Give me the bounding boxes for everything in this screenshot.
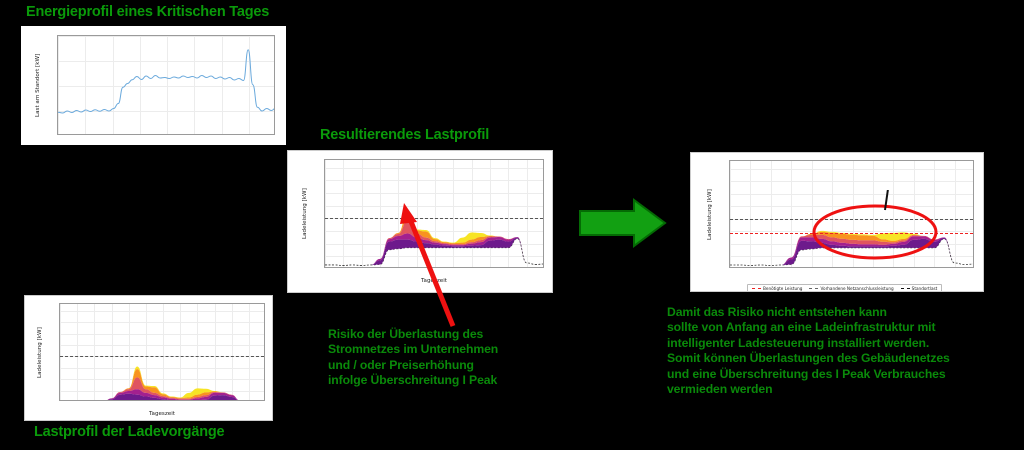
callout-arrow-icon-red: [395, 200, 465, 330]
series-layer: [60, 304, 265, 401]
chart3-title: Lastprofil der Ladevorgänge: [34, 424, 224, 440]
chart-panel-lastprofil-ladevorgaenge: 25507510012515017520000:0002:0004:0006:0…: [24, 295, 273, 421]
solution-line-line-3: Somit können Überlastungen des Gebäudene…: [667, 351, 950, 366]
series-layer: [58, 36, 275, 135]
chart1-plot-area: 01020304000:0003:0006:0009:0012:0015:001…: [57, 35, 275, 135]
solution-line-line-1: sollte von Anfang an eine Ladeinfrastruk…: [667, 320, 950, 335]
legend-item: Standortlast: [901, 286, 938, 291]
chart1-title: Energieprofil eines Kritischen Tages: [26, 4, 269, 20]
chart3-y-axis-label: Ladeleistung [kW]: [37, 327, 43, 378]
threshold-line: [60, 356, 264, 357]
risk-line-line-3: infolge Überschreitung I Peak: [328, 373, 498, 388]
chart-panel-energieprofil: 01020304000:0003:0006:0009:0012:0015:001…: [21, 26, 286, 145]
chart2-y-axis-label: Ladeleistung [kW]: [302, 188, 308, 239]
legend-item: Benötigte Leistung: [752, 286, 802, 291]
slide-canvas: Energieprofil eines Kritischen Tages 010…: [0, 0, 1024, 450]
legend-label: Benötigte Leistung: [763, 286, 802, 291]
legend-label: Vorhandene Netzanschlussleistung: [820, 286, 893, 291]
highlight-ellipse-icon: [810, 190, 940, 260]
risk-line-line-1: Stromnetzes im Unternehmen: [328, 342, 498, 357]
legend-item: Vorhandene Netzanschlussleistung: [809, 286, 893, 291]
chart1-y-axis-label: Last am Standort [kW]: [35, 53, 41, 116]
right-arrow-icon: [578, 197, 668, 249]
solution-line-line-0: Damit das Risiko nicht entstehen kann: [667, 305, 950, 320]
line-series: [58, 50, 275, 113]
risk-line-line-2: und / oder Preiserhöhung: [328, 358, 498, 373]
chart3-plot-area: 25507510012515017520000:0002:0004:0006:0…: [59, 303, 265, 401]
legend-swatch-icon: [901, 288, 910, 289]
chart4-y-axis-label: Ladeleistung [kW]: [707, 189, 713, 240]
chart4-legend: Benötigte LeistungVorhandene Netzanschlu…: [747, 284, 942, 292]
risk-line-line-0: Risiko der Überlastung des: [328, 327, 498, 342]
legend-swatch-icon: [809, 288, 818, 289]
risk-annotation-text: Risiko der Überlastung desStromnetzes im…: [328, 327, 498, 389]
chart3-x-axis-label: Tageszeit: [149, 411, 175, 417]
chart2-title: Resultierendes Lastprofil: [320, 127, 489, 143]
legend-swatch-icon: [752, 288, 761, 289]
solution-line-line-5: vermieden werden: [667, 382, 950, 397]
solution-line-line-4: und eine Überschreitung des I Peak Verbr…: [667, 367, 950, 382]
legend-label: Standortlast: [912, 286, 938, 291]
solution-annotation-text: Damit das Risiko nicht entstehen kannsol…: [667, 305, 950, 397]
solution-line-line-2: intelligenter Ladesteuerung installiert …: [667, 336, 950, 351]
